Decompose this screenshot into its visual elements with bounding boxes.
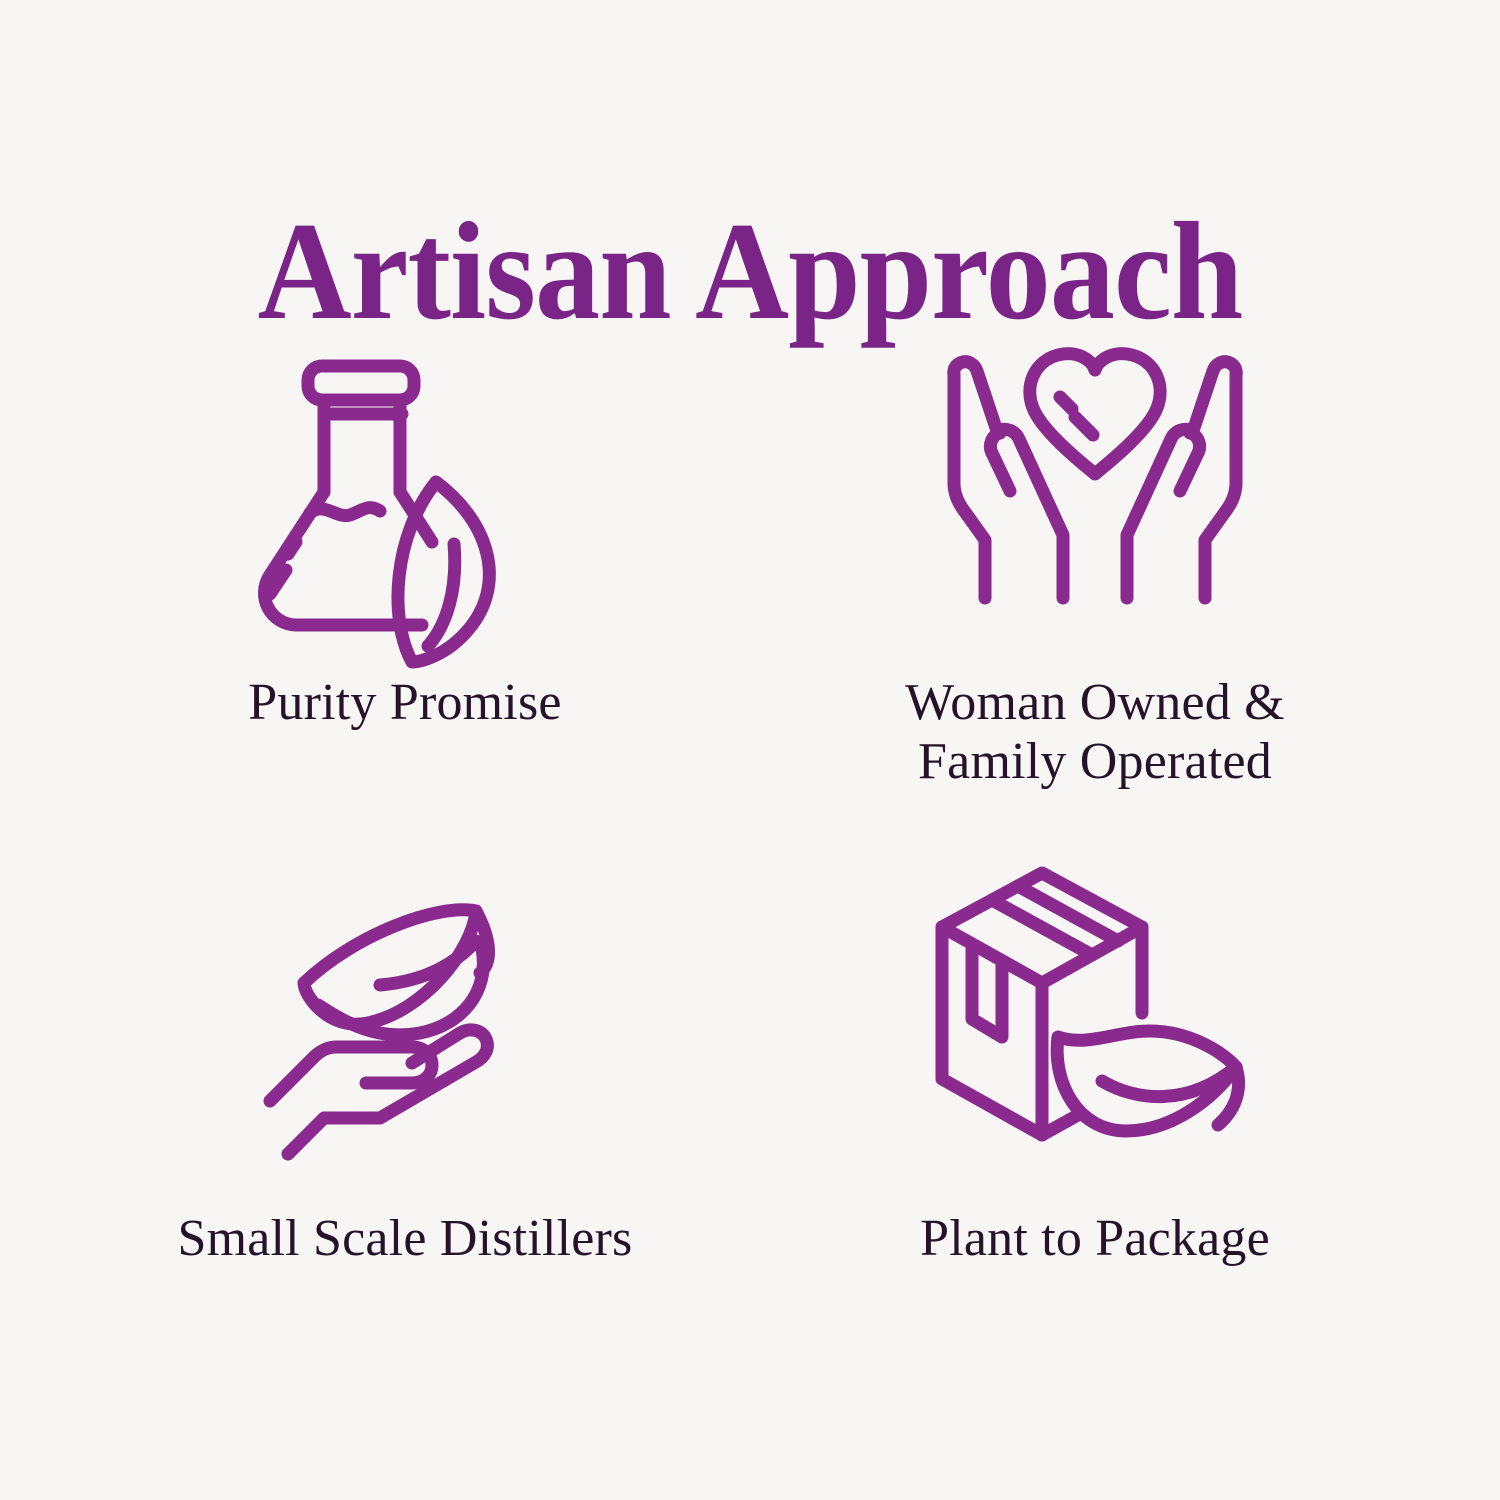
feature-label: Small Scale Distillers [177, 1210, 632, 1269]
artisan-approach-panel: Artisan Approach [0, 0, 1500, 1500]
package-box-leaf-icon [935, 860, 1255, 1160]
feature-label: Woman Owned & Family Operated [905, 674, 1285, 792]
feature-label-line-2: Family Operated [905, 733, 1285, 792]
feature-purity-promise: Purity Promise [60, 330, 750, 860]
feature-woman-owned: Woman Owned & Family Operated [750, 330, 1440, 860]
feature-grid: Purity Promise [60, 330, 1440, 1390]
feature-plant-to-package: Plant to Package [750, 860, 1440, 1390]
leaf-in-hand-icon [245, 860, 565, 1160]
flask-leaf-icon [245, 330, 565, 630]
feature-label: Plant to Package [920, 1210, 1270, 1269]
feature-label: Purity Promise [248, 674, 561, 733]
feature-label-line-1: Woman Owned & [905, 674, 1285, 733]
hands-holding-heart-icon [935, 330, 1255, 630]
page-title: Artisan Approach [53, 202, 1448, 342]
feature-small-scale-distillers: Small Scale Distillers [60, 860, 750, 1390]
